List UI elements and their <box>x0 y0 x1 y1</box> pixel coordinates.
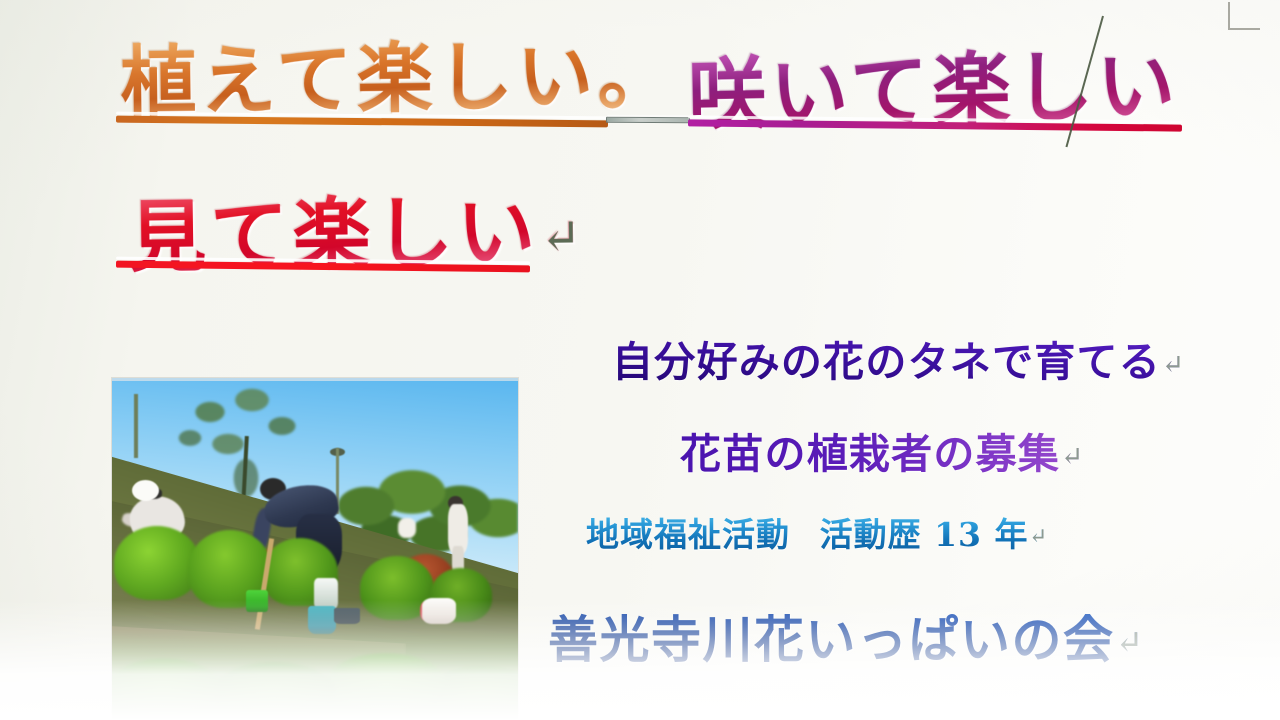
pilcrow-icon: ↵ <box>1061 442 1084 472</box>
photo-soft-focus-overlay <box>112 378 518 720</box>
body-line-3-text-a: 地域福祉活動 <box>586 515 790 554</box>
body-line-1-text: 自分好みの花のタネで育てる <box>612 338 1161 386</box>
body-line-4-organization-name: 善光寺川花いっぱいの会↵ <box>548 600 1144 672</box>
pilcrow-icon: ↵ <box>1116 623 1144 661</box>
pilcrow-icon: ↵ <box>1029 523 1048 548</box>
body-line-3-text-b: 活動歴 13 年 <box>820 515 1029 554</box>
photo-volunteers-planting <box>112 378 518 720</box>
body-line-2-text: 花苗の植栽者の募集 <box>680 430 1060 478</box>
headline-block: 植えて楽しい。 咲いて楽しい 見て楽しい↵ <box>0 0 1280 300</box>
pilcrow-icon: ↵ <box>540 209 586 266</box>
body-line-4-text: 善光寺川花いっぱいの会 <box>548 610 1115 669</box>
pilcrow-icon: ↵ <box>1162 350 1185 380</box>
body-line-2: 花苗の植栽者の募集↵ <box>680 420 1084 480</box>
body-line-3: 地域福祉活動活動歴 13 年↵ <box>586 508 1048 556</box>
body-line-1: 自分好みの花のタネで育てる↵ <box>612 328 1185 388</box>
headline-underline-gap <box>606 117 690 123</box>
slide-canvas: 植えて楽しい。 咲いて楽しい 見て楽しい↵ <box>0 0 1280 720</box>
